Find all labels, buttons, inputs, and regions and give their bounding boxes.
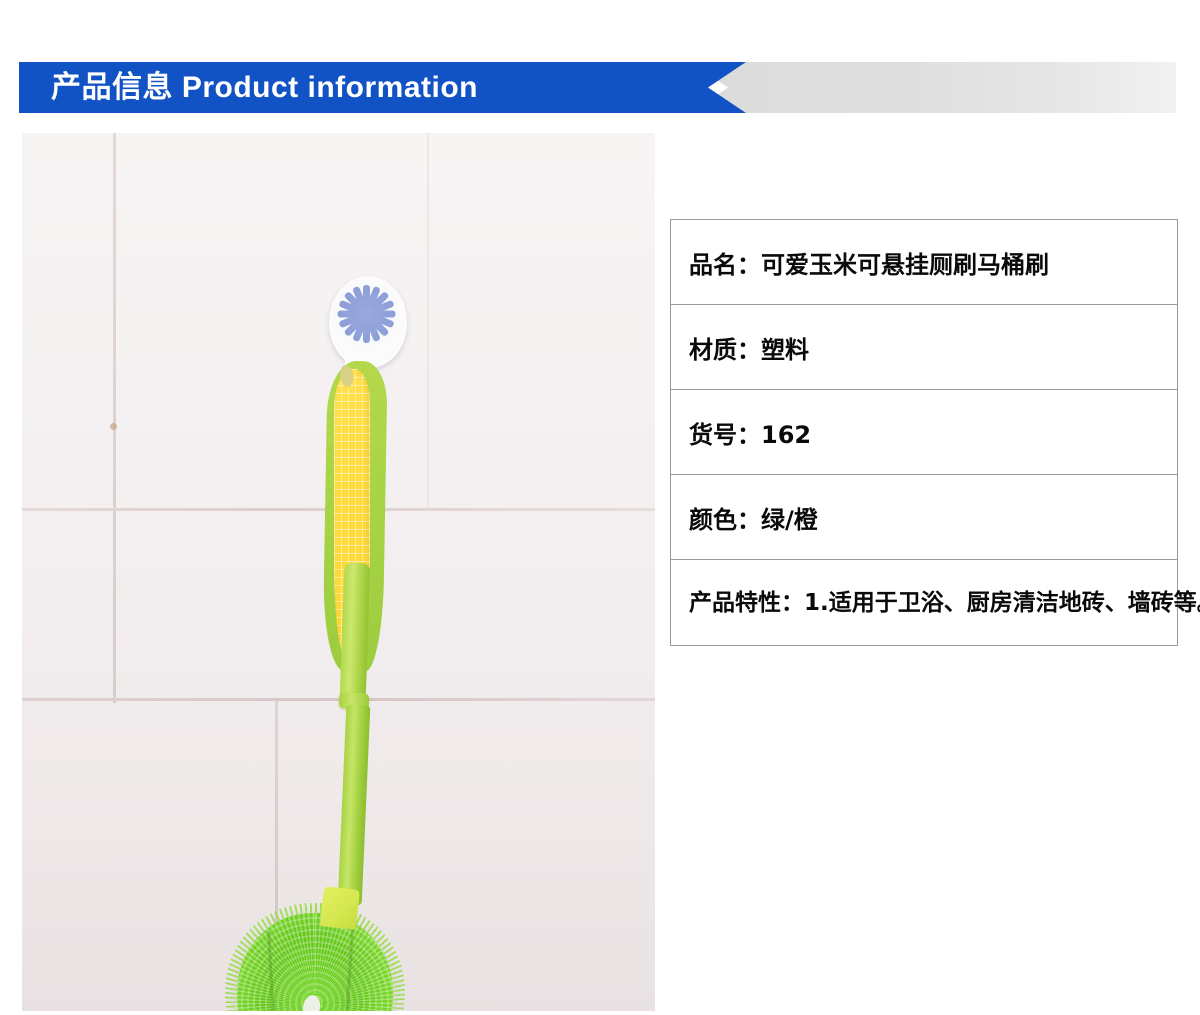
section-header-banner: 产品信息 Product information [19, 62, 1176, 113]
feature-line: 1.适用于卫浴、厨房清洁地砖、墙砖等。 [804, 581, 1200, 625]
table-row: 颜色：绿/橙 [671, 475, 1177, 560]
handle-upper [340, 563, 371, 704]
spec-item-number: 货号：162 [689, 415, 811, 450]
table-row-features: 产品特性： 1.适用于卫浴、厨房清洁地砖、墙砖等。 2.手柄末端设计有悬挂孔，收… [671, 560, 1177, 645]
flower-icon [333, 281, 399, 347]
tile-grout-line [113, 133, 116, 703]
brush-head [225, 903, 405, 1011]
tile-blemish [110, 423, 117, 430]
page-title: 产品信息 Product information [51, 62, 478, 113]
tile-grout-line [427, 133, 429, 508]
table-row: 材质：塑料 [671, 305, 1177, 390]
product-spec-table: 品名：可爱玉米可悬挂厕刷马桶刷 材质：塑料 货号：162 颜色：绿/橙 产品特性… [670, 219, 1178, 646]
features-heading: 产品特性： [689, 581, 804, 625]
spec-material: 材质：塑料 [689, 330, 809, 365]
spec-product-name: 品名：可爱玉米可悬挂厕刷马桶刷 [689, 245, 1049, 280]
spec-color: 颜色：绿/橙 [689, 500, 818, 535]
banner-gray-tail [690, 62, 1176, 113]
table-row: 货号：162 [671, 390, 1177, 475]
table-row: 品名：可爱玉米可悬挂厕刷马桶刷 [671, 220, 1177, 305]
product-photo [22, 133, 655, 1011]
brush-collar [320, 886, 360, 930]
